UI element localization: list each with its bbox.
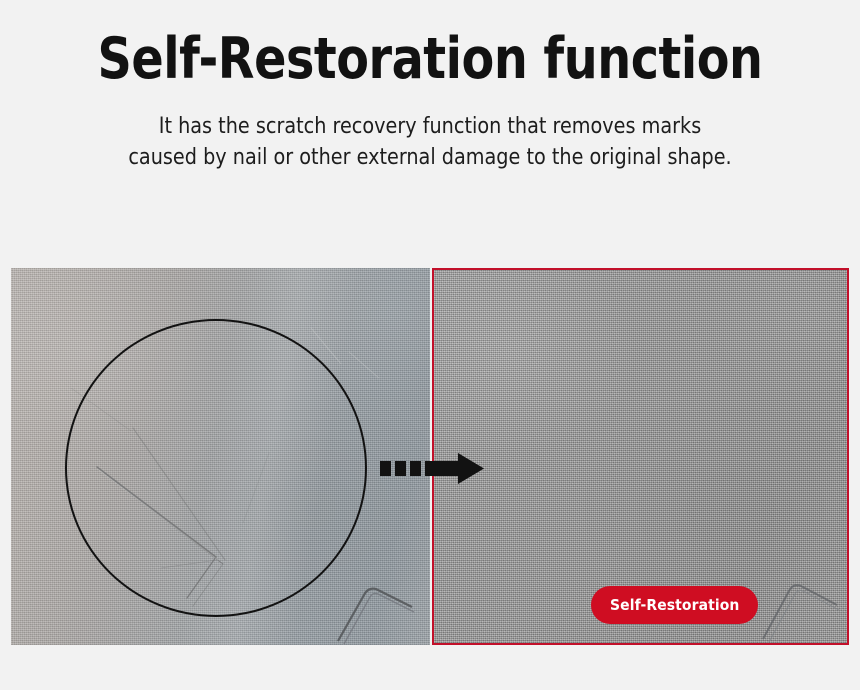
page-subtitle-line-1: It has the scratch recovery function tha… (22, 111, 839, 142)
before-image-panel (11, 268, 430, 645)
page-subtitle-line-2: caused by nail or other external damage … (22, 142, 839, 173)
surface-seam-before (320, 545, 430, 645)
after-image-panel: Self-Restoration (432, 268, 849, 645)
self-restoration-badge: Self-Restoration (591, 586, 758, 624)
dashed-right-arrow-icon (380, 451, 484, 487)
page-header: Self-Restoration function It has the scr… (0, 0, 860, 173)
page-title: Self-Restoration function (30, 0, 830, 93)
page-subtitle: It has the scratch recovery function tha… (22, 93, 839, 173)
